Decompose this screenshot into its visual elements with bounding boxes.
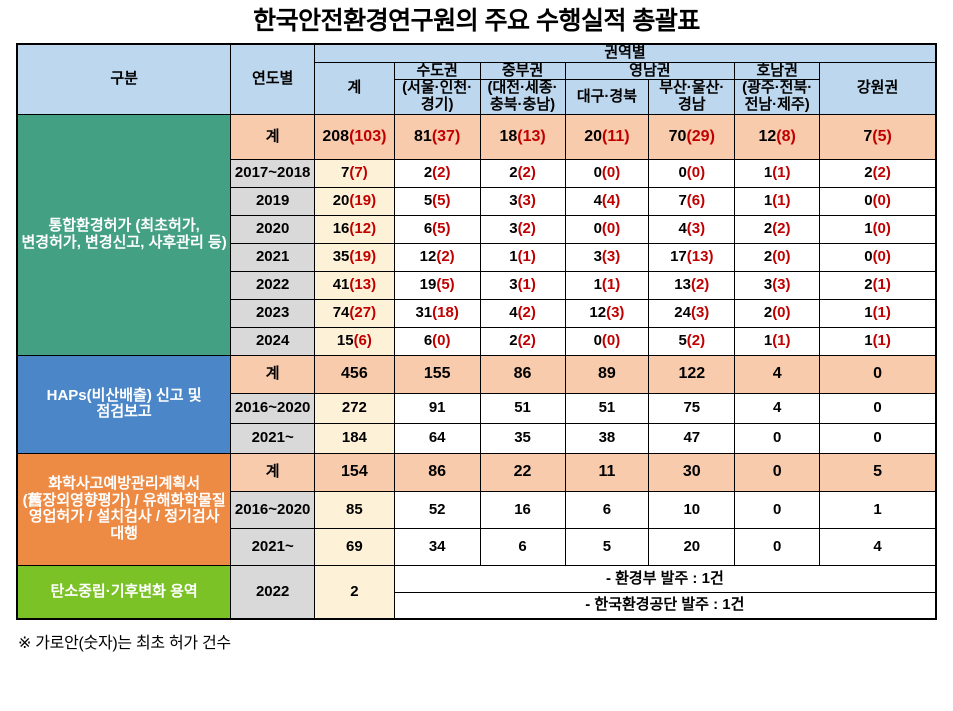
- paren-value: (1): [873, 304, 891, 321]
- paren-value: (0): [602, 220, 620, 237]
- paren-value: (0): [432, 332, 450, 349]
- note-cell: - 한국환경공단 발주 : 1건: [394, 592, 936, 619]
- year-cell: 2021~: [231, 423, 315, 453]
- data-cell: 22: [480, 453, 565, 491]
- data-cell: 1(0): [820, 215, 936, 243]
- data-cell: 70(29): [649, 114, 735, 159]
- data-cell: 11: [565, 453, 649, 491]
- data-cell: 16: [480, 491, 565, 528]
- data-cell: 12(3): [565, 299, 649, 327]
- data-cell: 20(11): [565, 114, 649, 159]
- total-cell: 184: [315, 423, 395, 453]
- section-label: 화학사고예방관리계획서 (舊장외영향평가) / 유해화학물질 영업허가 / 설치…: [17, 453, 231, 565]
- paren-value: (2): [518, 164, 536, 181]
- data-cell: 89: [565, 355, 649, 393]
- table-row: 탄소중립·기후변화 용역20222- 환경부 발주 : 1건: [17, 565, 936, 592]
- paren-value: (1): [772, 332, 790, 349]
- paren-value: (1): [518, 248, 536, 265]
- paren-value: (12): [349, 220, 376, 237]
- table-container: 구분 연도별 권역별 계 수도권 중부권 영남권 호남권 강원권 (서울·인천·…: [0, 43, 953, 621]
- total-cell: 2: [315, 565, 395, 619]
- header-category: 구분: [17, 44, 231, 115]
- data-cell: 2(2): [480, 159, 565, 187]
- paren-value: (6): [354, 332, 372, 349]
- data-cell: 0(0): [565, 159, 649, 187]
- year-cell: 2022: [231, 271, 315, 299]
- data-cell: 0: [820, 393, 936, 423]
- data-cell: 6: [480, 528, 565, 565]
- data-cell: 1(1): [735, 327, 820, 355]
- paren-value: (3): [606, 304, 624, 321]
- data-cell: 5: [565, 528, 649, 565]
- data-cell: 3(3): [735, 271, 820, 299]
- data-cell: 2(2): [820, 159, 936, 187]
- header-region-jungbugwon: 중부권: [480, 62, 565, 80]
- data-cell: 3(3): [480, 187, 565, 215]
- paren-value: (3): [691, 304, 709, 321]
- total-cell: 35(19): [315, 243, 395, 271]
- page-title: 한국안전환경연구원의 주요 수행실적 총괄표: [0, 0, 953, 43]
- paren-value: (0): [687, 164, 705, 181]
- data-cell: 3(1): [480, 271, 565, 299]
- data-cell: 5(5): [394, 187, 480, 215]
- header-region-honamgwon: 호남권: [735, 62, 820, 80]
- data-cell: 4: [820, 528, 936, 565]
- paren-value: (0): [602, 164, 620, 181]
- data-cell: 1(1): [735, 187, 820, 215]
- data-cell: 12(2): [394, 243, 480, 271]
- paren-value: (1): [772, 192, 790, 209]
- paren-value: (3): [602, 248, 620, 265]
- header-sub-jungbugwon: (대전·세종·충북·충남): [480, 80, 565, 115]
- table-row: HAPs(비산배출) 신고 및 점검보고계456155868912240: [17, 355, 936, 393]
- data-cell: 4: [735, 393, 820, 423]
- section-label: 통합환경허가 (최초허가, 변경허가, 변경신고, 사후관리 등): [17, 114, 231, 355]
- paren-value: (1): [873, 332, 891, 349]
- data-cell: 47: [649, 423, 735, 453]
- data-cell: 4(4): [565, 187, 649, 215]
- section-label: 탄소중립·기후변화 용역: [17, 565, 231, 619]
- page-root: 한국안전환경연구원의 주요 수행실적 총괄표 구분 연도별 권역별: [0, 0, 953, 711]
- data-cell: 51: [480, 393, 565, 423]
- header-year: 연도별: [231, 44, 315, 115]
- data-cell: 0: [735, 423, 820, 453]
- paren-value: (5): [436, 276, 454, 293]
- data-cell: 4(2): [480, 299, 565, 327]
- paren-value: (1): [518, 276, 536, 293]
- paren-value: (0): [873, 220, 891, 237]
- performance-summary-table: 구분 연도별 권역별 계 수도권 중부권 영남권 호남권 강원권 (서울·인천·…: [16, 43, 937, 621]
- year-cell: 2022: [231, 565, 315, 619]
- paren-value: (0): [873, 248, 891, 265]
- paren-value: (0): [772, 304, 790, 321]
- data-cell: 2(2): [480, 327, 565, 355]
- paren-value: (5): [872, 128, 892, 145]
- data-cell: 20: [649, 528, 735, 565]
- data-cell: 2(0): [735, 299, 820, 327]
- paren-value: (7): [349, 164, 367, 181]
- paren-value: (19): [349, 192, 376, 209]
- data-cell: 34: [394, 528, 480, 565]
- table-row: 통합환경허가 (최초허가, 변경허가, 변경신고, 사후관리 등)계208(10…: [17, 114, 936, 159]
- data-cell: 1(1): [820, 327, 936, 355]
- data-cell: 1(1): [820, 299, 936, 327]
- section-label: HAPs(비산배출) 신고 및 점검보고: [17, 355, 231, 453]
- total-cell: 208(103): [315, 114, 395, 159]
- paren-value: (29): [686, 128, 714, 145]
- header-region-group: 권역별: [315, 44, 936, 62]
- paren-value: (2): [518, 220, 536, 237]
- total-cell: 16(12): [315, 215, 395, 243]
- paren-value: (19): [349, 248, 376, 265]
- data-cell: 122: [649, 355, 735, 393]
- data-cell: 2(2): [735, 215, 820, 243]
- total-cell: 69: [315, 528, 395, 565]
- data-cell: 91: [394, 393, 480, 423]
- paren-value: (1): [873, 276, 891, 293]
- data-cell: 18(13): [480, 114, 565, 159]
- paren-value: (2): [518, 332, 536, 349]
- year-cell: 2016~2020: [231, 393, 315, 423]
- header-region-yeongnamgwon: 영남권: [565, 62, 735, 80]
- data-cell: 0: [820, 355, 936, 393]
- table-header: 구분 연도별 권역별 계 수도권 중부권 영남권 호남권 강원권 (서울·인천·…: [17, 44, 936, 115]
- paren-value: (37): [432, 128, 460, 145]
- paren-value: (3): [687, 220, 705, 237]
- data-cell: 24(3): [649, 299, 735, 327]
- year-cell: 계: [231, 355, 315, 393]
- data-cell: 0(0): [565, 215, 649, 243]
- data-cell: 81(37): [394, 114, 480, 159]
- data-cell: 1(1): [565, 271, 649, 299]
- year-cell: 2016~2020: [231, 491, 315, 528]
- data-cell: 52: [394, 491, 480, 528]
- paren-value: (5): [432, 220, 450, 237]
- table-row: 화학사고예방관리계획서 (舊장외영향평가) / 유해화학물질 영업허가 / 설치…: [17, 453, 936, 491]
- data-cell: 7(5): [820, 114, 936, 159]
- data-cell: 0(0): [820, 243, 936, 271]
- paren-value: (1): [772, 164, 790, 181]
- paren-value: (13): [517, 128, 545, 145]
- data-cell: 13(2): [649, 271, 735, 299]
- paren-value: (2): [691, 276, 709, 293]
- total-cell: 85: [315, 491, 395, 528]
- data-cell: 1(1): [480, 243, 565, 271]
- year-cell: 2019: [231, 187, 315, 215]
- data-cell: 0: [735, 453, 820, 491]
- total-cell: 456: [315, 355, 395, 393]
- data-cell: 0(0): [820, 187, 936, 215]
- header-row-1: 구분 연도별 권역별: [17, 44, 936, 62]
- paren-value: (0): [873, 192, 891, 209]
- year-cell: 계: [231, 114, 315, 159]
- paren-value: (4): [602, 192, 620, 209]
- year-cell: 2021~: [231, 528, 315, 565]
- paren-value: (2): [436, 248, 454, 265]
- data-cell: 0(0): [565, 327, 649, 355]
- paren-value: (18): [432, 304, 459, 321]
- paren-value: (2): [772, 220, 790, 237]
- paren-value: (13): [687, 248, 714, 265]
- data-cell: 31(18): [394, 299, 480, 327]
- data-cell: 3(2): [480, 215, 565, 243]
- total-cell: 7(7): [315, 159, 395, 187]
- paren-value: (27): [349, 304, 376, 321]
- paren-value: (11): [602, 128, 630, 145]
- data-cell: 0(0): [649, 159, 735, 187]
- data-cell: 0: [735, 491, 820, 528]
- total-cell: 74(27): [315, 299, 395, 327]
- header-total: 계: [315, 62, 395, 114]
- paren-value: (3): [772, 276, 790, 293]
- total-cell: 41(13): [315, 271, 395, 299]
- data-cell: 17(13): [649, 243, 735, 271]
- paren-value: (2): [432, 164, 450, 181]
- data-cell: 1: [820, 491, 936, 528]
- paren-value: (0): [772, 248, 790, 265]
- paren-value: (103): [349, 128, 386, 145]
- data-cell: 3(3): [565, 243, 649, 271]
- data-cell: 30: [649, 453, 735, 491]
- data-cell: 64: [394, 423, 480, 453]
- table-body: 통합환경허가 (최초허가, 변경허가, 변경신고, 사후관리 등)계208(10…: [17, 114, 936, 619]
- paren-value: (8): [776, 128, 796, 145]
- header-sub-busan-ulsan-gyeongnam: 부산·울산·경남: [649, 80, 735, 115]
- data-cell: 6: [565, 491, 649, 528]
- data-cell: 35: [480, 423, 565, 453]
- paren-value: (2): [518, 304, 536, 321]
- header-sub-sudogwon: (서울·인천·경기): [394, 80, 480, 115]
- note-cell: - 환경부 발주 : 1건: [394, 565, 936, 592]
- header-region-sudogwon: 수도권: [394, 62, 480, 80]
- paren-value: (3): [518, 192, 536, 209]
- data-cell: 7(6): [649, 187, 735, 215]
- paren-value: (6): [687, 192, 705, 209]
- header-sub-daegu-gyeongbuk: 대구·경북: [565, 80, 649, 115]
- total-cell: 154: [315, 453, 395, 491]
- data-cell: 4: [735, 355, 820, 393]
- year-cell: 2017~2018: [231, 159, 315, 187]
- header-sub-honamgwon: (광주·전북·전남·제주): [735, 80, 820, 115]
- paren-value: (2): [873, 164, 891, 181]
- total-cell: 15(6): [315, 327, 395, 355]
- header-region-gangwongwon: 강원권: [820, 62, 936, 114]
- data-cell: 0: [820, 423, 936, 453]
- data-cell: 155: [394, 355, 480, 393]
- data-cell: 86: [394, 453, 480, 491]
- data-cell: 6(0): [394, 327, 480, 355]
- total-cell: 20(19): [315, 187, 395, 215]
- data-cell: 75: [649, 393, 735, 423]
- paren-value: (0): [602, 332, 620, 349]
- data-cell: 2(0): [735, 243, 820, 271]
- year-cell: 2021: [231, 243, 315, 271]
- data-cell: 6(5): [394, 215, 480, 243]
- paren-value: (1): [602, 276, 620, 293]
- paren-value: (2): [687, 332, 705, 349]
- data-cell: 10: [649, 491, 735, 528]
- total-cell: 272: [315, 393, 395, 423]
- year-cell: 계: [231, 453, 315, 491]
- table-footnote: ※ 가로안(숫자)는 최초 허가 건수: [0, 620, 953, 653]
- data-cell: 4(3): [649, 215, 735, 243]
- data-cell: 2(2): [394, 159, 480, 187]
- data-cell: 38: [565, 423, 649, 453]
- paren-value: (5): [432, 192, 450, 209]
- data-cell: 19(5): [394, 271, 480, 299]
- data-cell: 51: [565, 393, 649, 423]
- data-cell: 1(1): [735, 159, 820, 187]
- year-cell: 2023: [231, 299, 315, 327]
- data-cell: 86: [480, 355, 565, 393]
- data-cell: 5: [820, 453, 936, 491]
- data-cell: 5(2): [649, 327, 735, 355]
- year-cell: 2024: [231, 327, 315, 355]
- paren-value: (13): [349, 276, 376, 293]
- year-cell: 2020: [231, 215, 315, 243]
- data-cell: 2(1): [820, 271, 936, 299]
- data-cell: 12(8): [735, 114, 820, 159]
- data-cell: 0: [735, 528, 820, 565]
